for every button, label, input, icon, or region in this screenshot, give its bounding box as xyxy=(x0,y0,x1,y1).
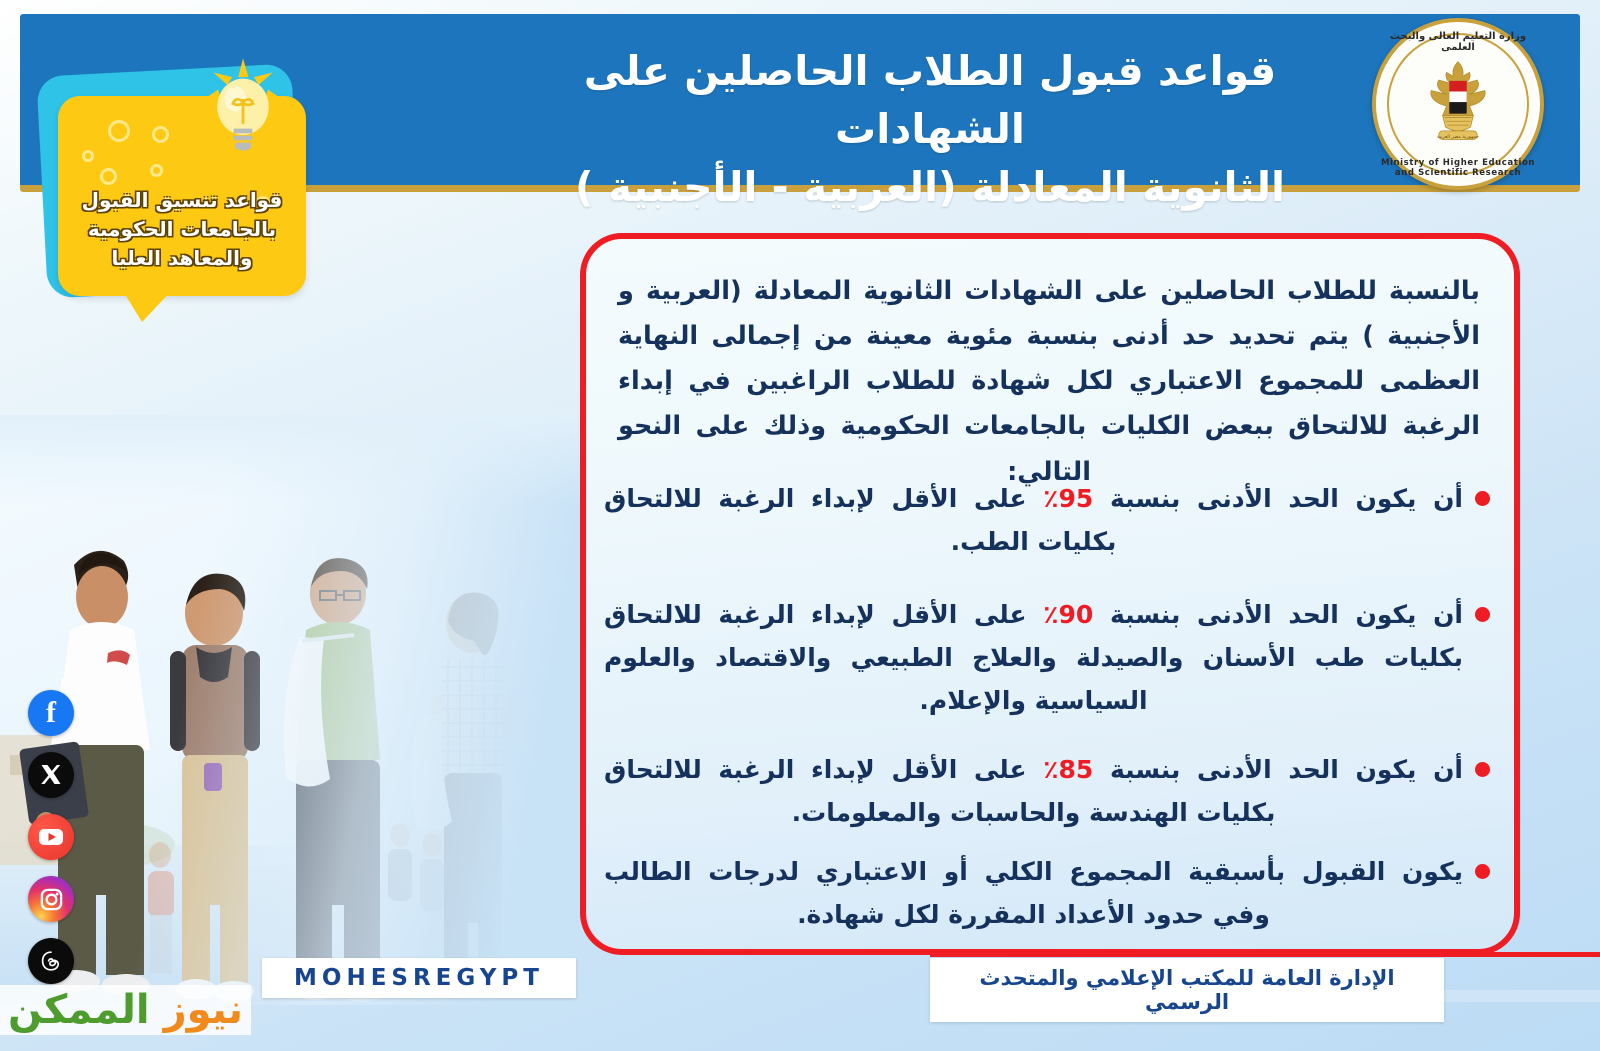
bullet-dot-icon xyxy=(1475,762,1490,777)
list-item-text: أن يكون الحد الأدنى بنسبة 95٪ على الأقل … xyxy=(604,477,1463,563)
eagle-of-saladin-icon: جمهورية مصر العربية xyxy=(1410,55,1506,153)
lightbulb-icon xyxy=(204,58,282,168)
list-item-text: يكون القبول بأسبقية المجموع الكلي أو الا… xyxy=(604,850,1463,936)
watermark-orange-word: نيوز xyxy=(164,987,243,1033)
rule-prefix: أن يكون الحد الأدنى بنسبة xyxy=(1093,484,1463,513)
threads-icon[interactable] xyxy=(28,938,74,984)
watermark-green-word: الممكن xyxy=(8,987,150,1033)
badge-text: قواعد تنسيق القبول بالجامعات الحكومية وا… xyxy=(58,186,306,273)
list-item: أن يكون الحد الأدنى بنسبة 85٪ على الأقل … xyxy=(604,748,1496,834)
badge-line-3: والمعاهد العليا xyxy=(58,244,306,273)
social-links: f xyxy=(22,690,74,1000)
infographic-poster: قواعد قبول الطلاب الحاصلين على الشهادات … xyxy=(0,0,1600,1051)
page-title: قواعد قبول الطلاب الحاصلين على الشهادات … xyxy=(500,42,1360,217)
list-item-text: أن يكون الحد الأدنى بنسبة 85٪ على الأقل … xyxy=(604,748,1463,834)
news-watermark: نيوز الممكن xyxy=(0,985,251,1035)
youtube-icon[interactable] xyxy=(28,814,74,860)
list-item: أن يكون الحد الأدنى بنسبة 95٪ على الأقل … xyxy=(604,477,1496,563)
list-item: أن يكون الحد الأدنى بنسبة 90٪ على الأقل … xyxy=(604,593,1496,722)
footer-red-divider xyxy=(930,952,1600,957)
badge-bubble xyxy=(152,126,169,143)
badge-bubble xyxy=(150,164,163,177)
facebook-icon[interactable]: f xyxy=(28,690,74,736)
instagram-icon[interactable] xyxy=(28,876,74,922)
page-title-line-2: الثانوية المعادلة (العربية - الأجنبية ) xyxy=(500,158,1360,216)
rules-card: بالنسبة للطلاب الحاصلين على الشهادات الث… xyxy=(580,233,1520,955)
photo-fade-top-overlay xyxy=(0,415,580,505)
x-twitter-icon[interactable] xyxy=(28,752,74,798)
list-item: يكون القبول بأسبقية المجموع الكلي أو الا… xyxy=(604,850,1496,936)
rule-percent: 90٪ xyxy=(1043,600,1093,629)
page-title-line-1: قواعد قبول الطلاب الحاصلين على الشهادات xyxy=(500,42,1360,158)
rule-prefix: أن يكون الحد الأدنى بنسبة xyxy=(1093,600,1463,629)
students-photo xyxy=(0,415,580,1005)
ministry-seal: وزارة التعليم العالى والبحث العلمى جمهور… xyxy=(1372,18,1544,190)
badge-bubble xyxy=(100,168,117,185)
badge-bubble xyxy=(82,150,94,162)
mohesr-handle-plate: MOHESREGYPT xyxy=(262,958,576,998)
card-intro-text: بالنسبة للطلاب الحاصلين على الشهادات الث… xyxy=(618,269,1480,495)
rule-percent: 95٪ xyxy=(1043,484,1093,513)
facebook-glyph: f xyxy=(46,696,56,730)
badge-line-1: قواعد تنسيق القبول xyxy=(58,186,306,215)
instagram-glyph xyxy=(39,887,64,912)
x-glyph xyxy=(39,763,63,787)
bullet-dot-icon xyxy=(1475,607,1490,622)
rule-suffix: على الأقل لإبداء الرغبة للالتحاق بكليات … xyxy=(604,484,1116,556)
badge-speech-tail xyxy=(120,286,176,322)
department-plate: الإدارة العامة للمكتب الإعلامي والمتحدث … xyxy=(930,958,1444,1022)
bullet-dot-icon xyxy=(1475,491,1490,506)
badge-bubble xyxy=(108,120,130,142)
rule-prefix: أن يكون الحد الأدنى بنسبة xyxy=(1093,755,1463,784)
youtube-glyph xyxy=(38,827,64,847)
list-item-text: أن يكون الحد الأدنى بنسبة 90٪ على الأقل … xyxy=(604,593,1463,722)
rule-percent: 85٪ xyxy=(1043,755,1093,784)
badge-line-2: بالجامعات الحكومية xyxy=(58,215,306,244)
threads-glyph xyxy=(39,949,63,973)
rules-badge: قواعد تنسيق القبول بالجامعات الحكومية وا… xyxy=(24,18,334,318)
svg-text:جمهورية مصر العربية: جمهورية مصر العربية xyxy=(1437,134,1479,140)
bullet-dot-icon xyxy=(1475,864,1490,879)
rules-list: أن يكون الحد الأدنى بنسبة 95٪ على الأقل … xyxy=(604,477,1496,952)
